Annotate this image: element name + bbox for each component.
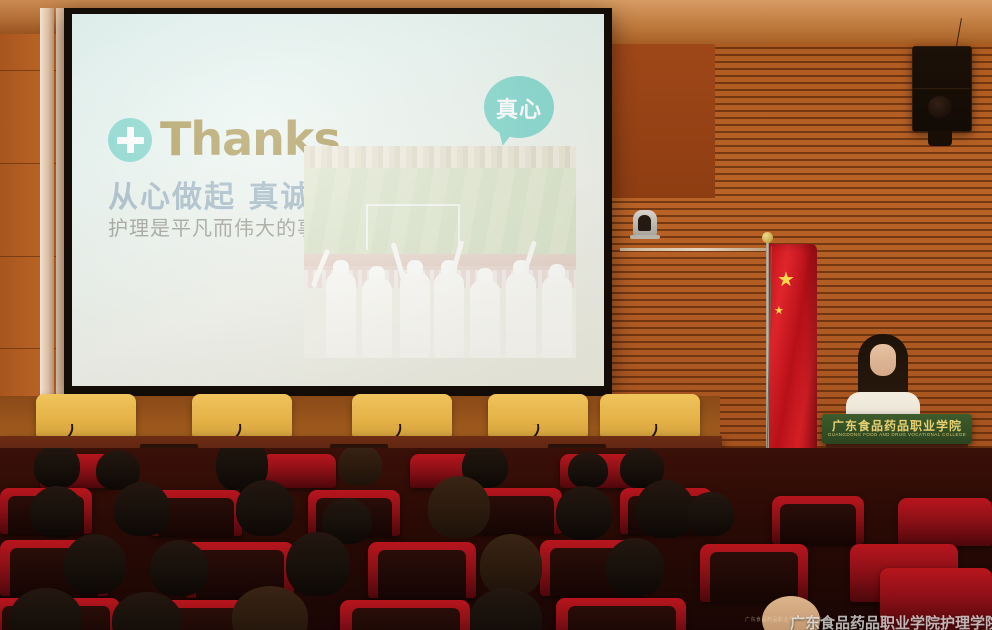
slide-photo [304, 146, 576, 358]
flag-finial-icon [762, 232, 773, 243]
audience-head [114, 482, 170, 536]
auditorium-photo: Thanks 从心做起 真诚相待 护理是平凡而伟大的事业 真心 [0, 0, 992, 630]
audience-head [236, 480, 294, 536]
audience-head [470, 588, 542, 630]
audience-head [286, 532, 350, 596]
camera-mount [630, 235, 660, 239]
audience-head [30, 486, 84, 538]
audience-head [64, 534, 126, 594]
audience-head [568, 452, 608, 488]
audience-head [338, 448, 382, 486]
speaker-face [870, 344, 896, 376]
watermark: 广东食品药品职业学院护理学院学生党支部 [790, 612, 992, 630]
auditorium-seat-cushion [780, 504, 856, 546]
auditorium-seat-cushion [568, 606, 676, 630]
flag-star-large-icon: ★ [777, 270, 795, 290]
audience-head [34, 448, 80, 488]
speaker-seam [912, 88, 970, 89]
projection-screen: Thanks 从心做起 真诚相待 护理是平凡而伟大的事业 真心 [72, 14, 604, 386]
audience-head [606, 538, 664, 596]
audience-head [556, 486, 612, 540]
photo-overlay-wash [304, 146, 576, 358]
ceiling-right [560, 0, 992, 44]
audience-head [480, 534, 542, 596]
audience-head [428, 476, 490, 538]
speech-bubble-label: 真心 [484, 92, 554, 124]
camera-lens-icon [638, 215, 651, 231]
audience-head [636, 480, 694, 538]
wall-speaker [912, 46, 972, 132]
wall-handrail [620, 248, 780, 251]
audience-head [150, 540, 208, 596]
auditorium-seat [898, 498, 992, 546]
audience-head [112, 592, 182, 630]
speaker-driver-icon [928, 96, 952, 118]
flag-star-small-icon: ★ [774, 306, 784, 317]
audience-head [688, 492, 734, 536]
pillar-highlight [40, 8, 54, 400]
auditorium-seat-cushion [378, 550, 466, 600]
plus-horizontal-bar [117, 137, 144, 144]
speaker-bracket [928, 130, 952, 146]
podium-en-name: GUANGDONG FOOD AND DRUG VOCATIONAL COLLE… [822, 432, 972, 437]
auditorium-seat-cushion [352, 608, 460, 630]
audience-area [0, 448, 992, 630]
